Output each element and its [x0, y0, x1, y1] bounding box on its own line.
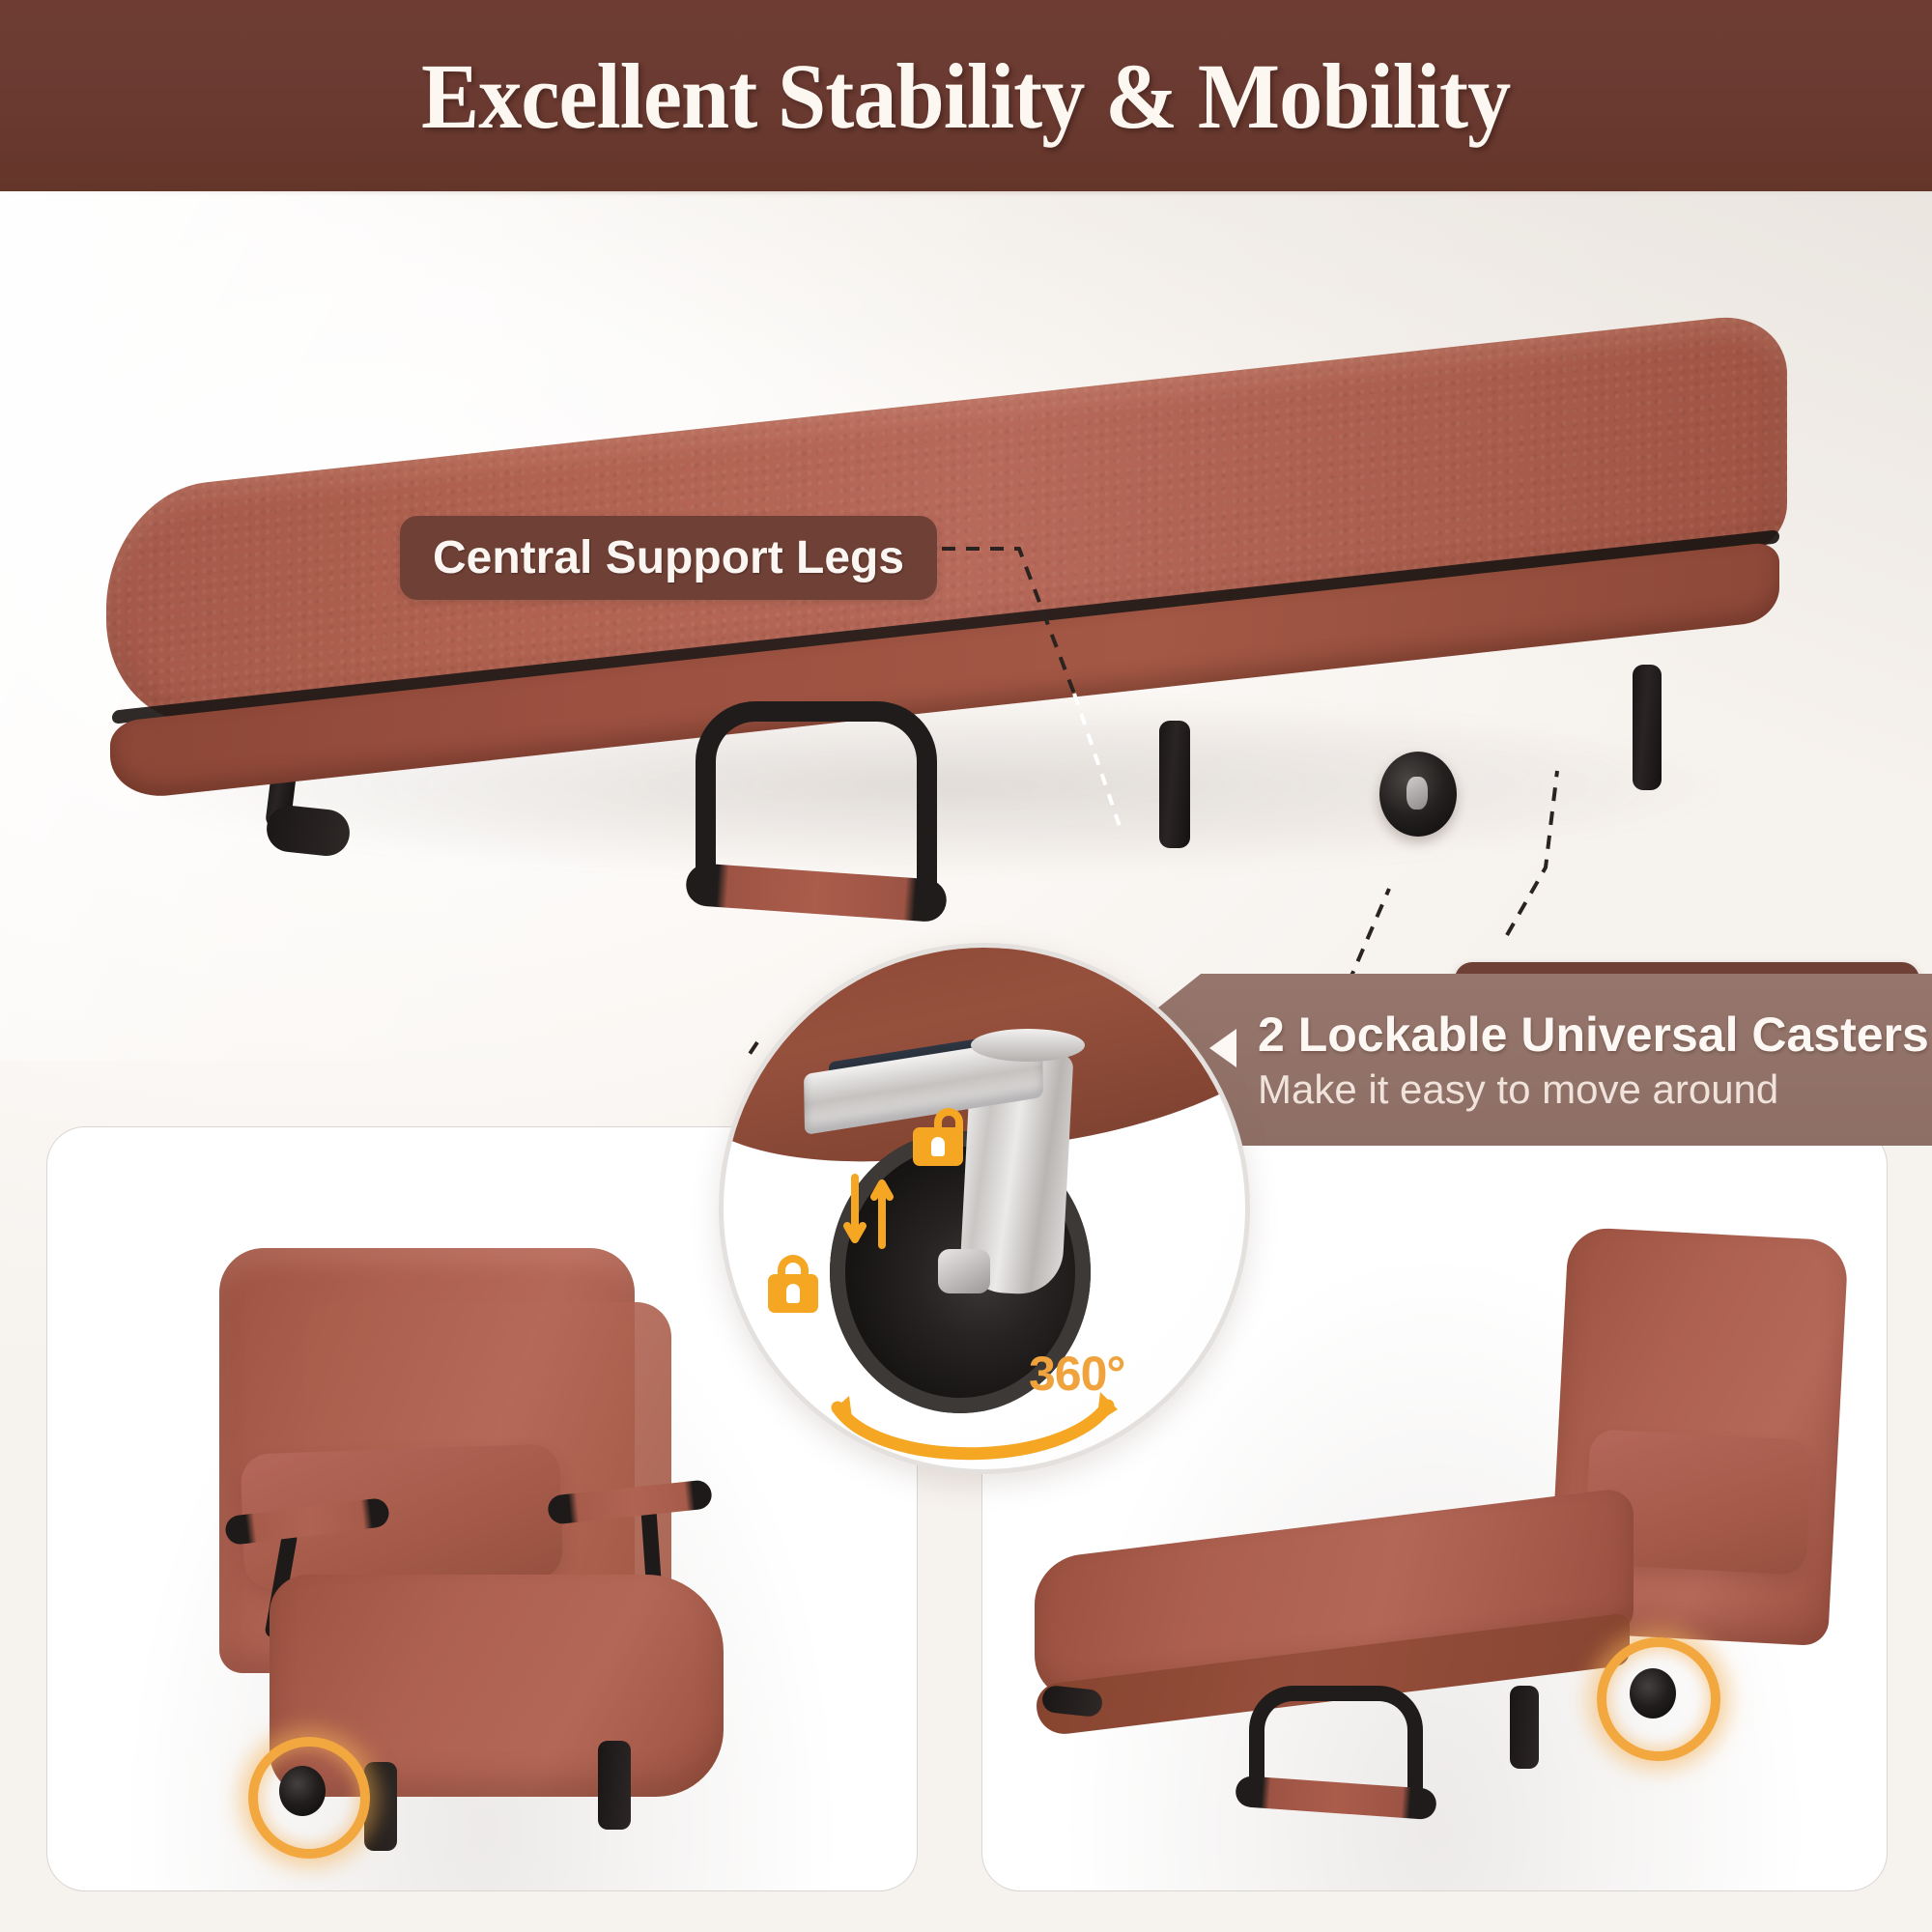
central-support-leg — [1159, 721, 1190, 848]
infographic-page: Excellent Stability & Mobility — [0, 0, 1932, 1932]
rotation-arrow-icon — [810, 1384, 1139, 1474]
caster-wheel-on-bed — [1379, 752, 1457, 837]
inset-caster-hub — [938, 1249, 990, 1293]
callout-central-support-legs[interactable]: Central Support Legs — [400, 516, 937, 600]
lock-closed-icon — [768, 1255, 818, 1313]
header-bar: Excellent Stability & Mobility — [0, 0, 1932, 191]
lock-body — [768, 1274, 818, 1313]
end-support-leg-right — [1633, 665, 1662, 790]
lock-open-icon — [913, 1108, 963, 1166]
inset-caster-swivel-ring — [971, 1029, 1085, 1062]
caster-detail-inset: 360° — [719, 943, 1250, 1474]
chaise-center-leg — [1510, 1686, 1539, 1769]
banner-title: 2 Lockable Universal Casters — [1258, 1007, 1929, 1063]
banner-text-group: 2 Lockable Universal Casters Make it eas… — [1258, 1007, 1929, 1113]
product-flat-bed-image — [106, 346, 1787, 800]
chaise-armrest-support-bar — [1249, 1686, 1423, 1800]
callout-label: Central Support Legs — [433, 531, 904, 584]
armrest-support-bar — [696, 701, 937, 891]
lock-body — [913, 1127, 963, 1166]
up-down-arrows-icon — [841, 1172, 899, 1251]
armchair-image — [161, 1219, 799, 1857]
hero-scene: Central Support Legs Wheels End Support … — [0, 191, 1932, 1061]
armrest-support-frame — [696, 701, 937, 891]
banner-subtitle: Make it easy to move around — [1258, 1066, 1929, 1113]
page-title: Excellent Stability & Mobility — [421, 43, 1510, 150]
chair-leg-front-right — [598, 1741, 631, 1830]
caster-glow-ring — [1597, 1637, 1720, 1761]
caster-glow-ring — [248, 1737, 370, 1859]
